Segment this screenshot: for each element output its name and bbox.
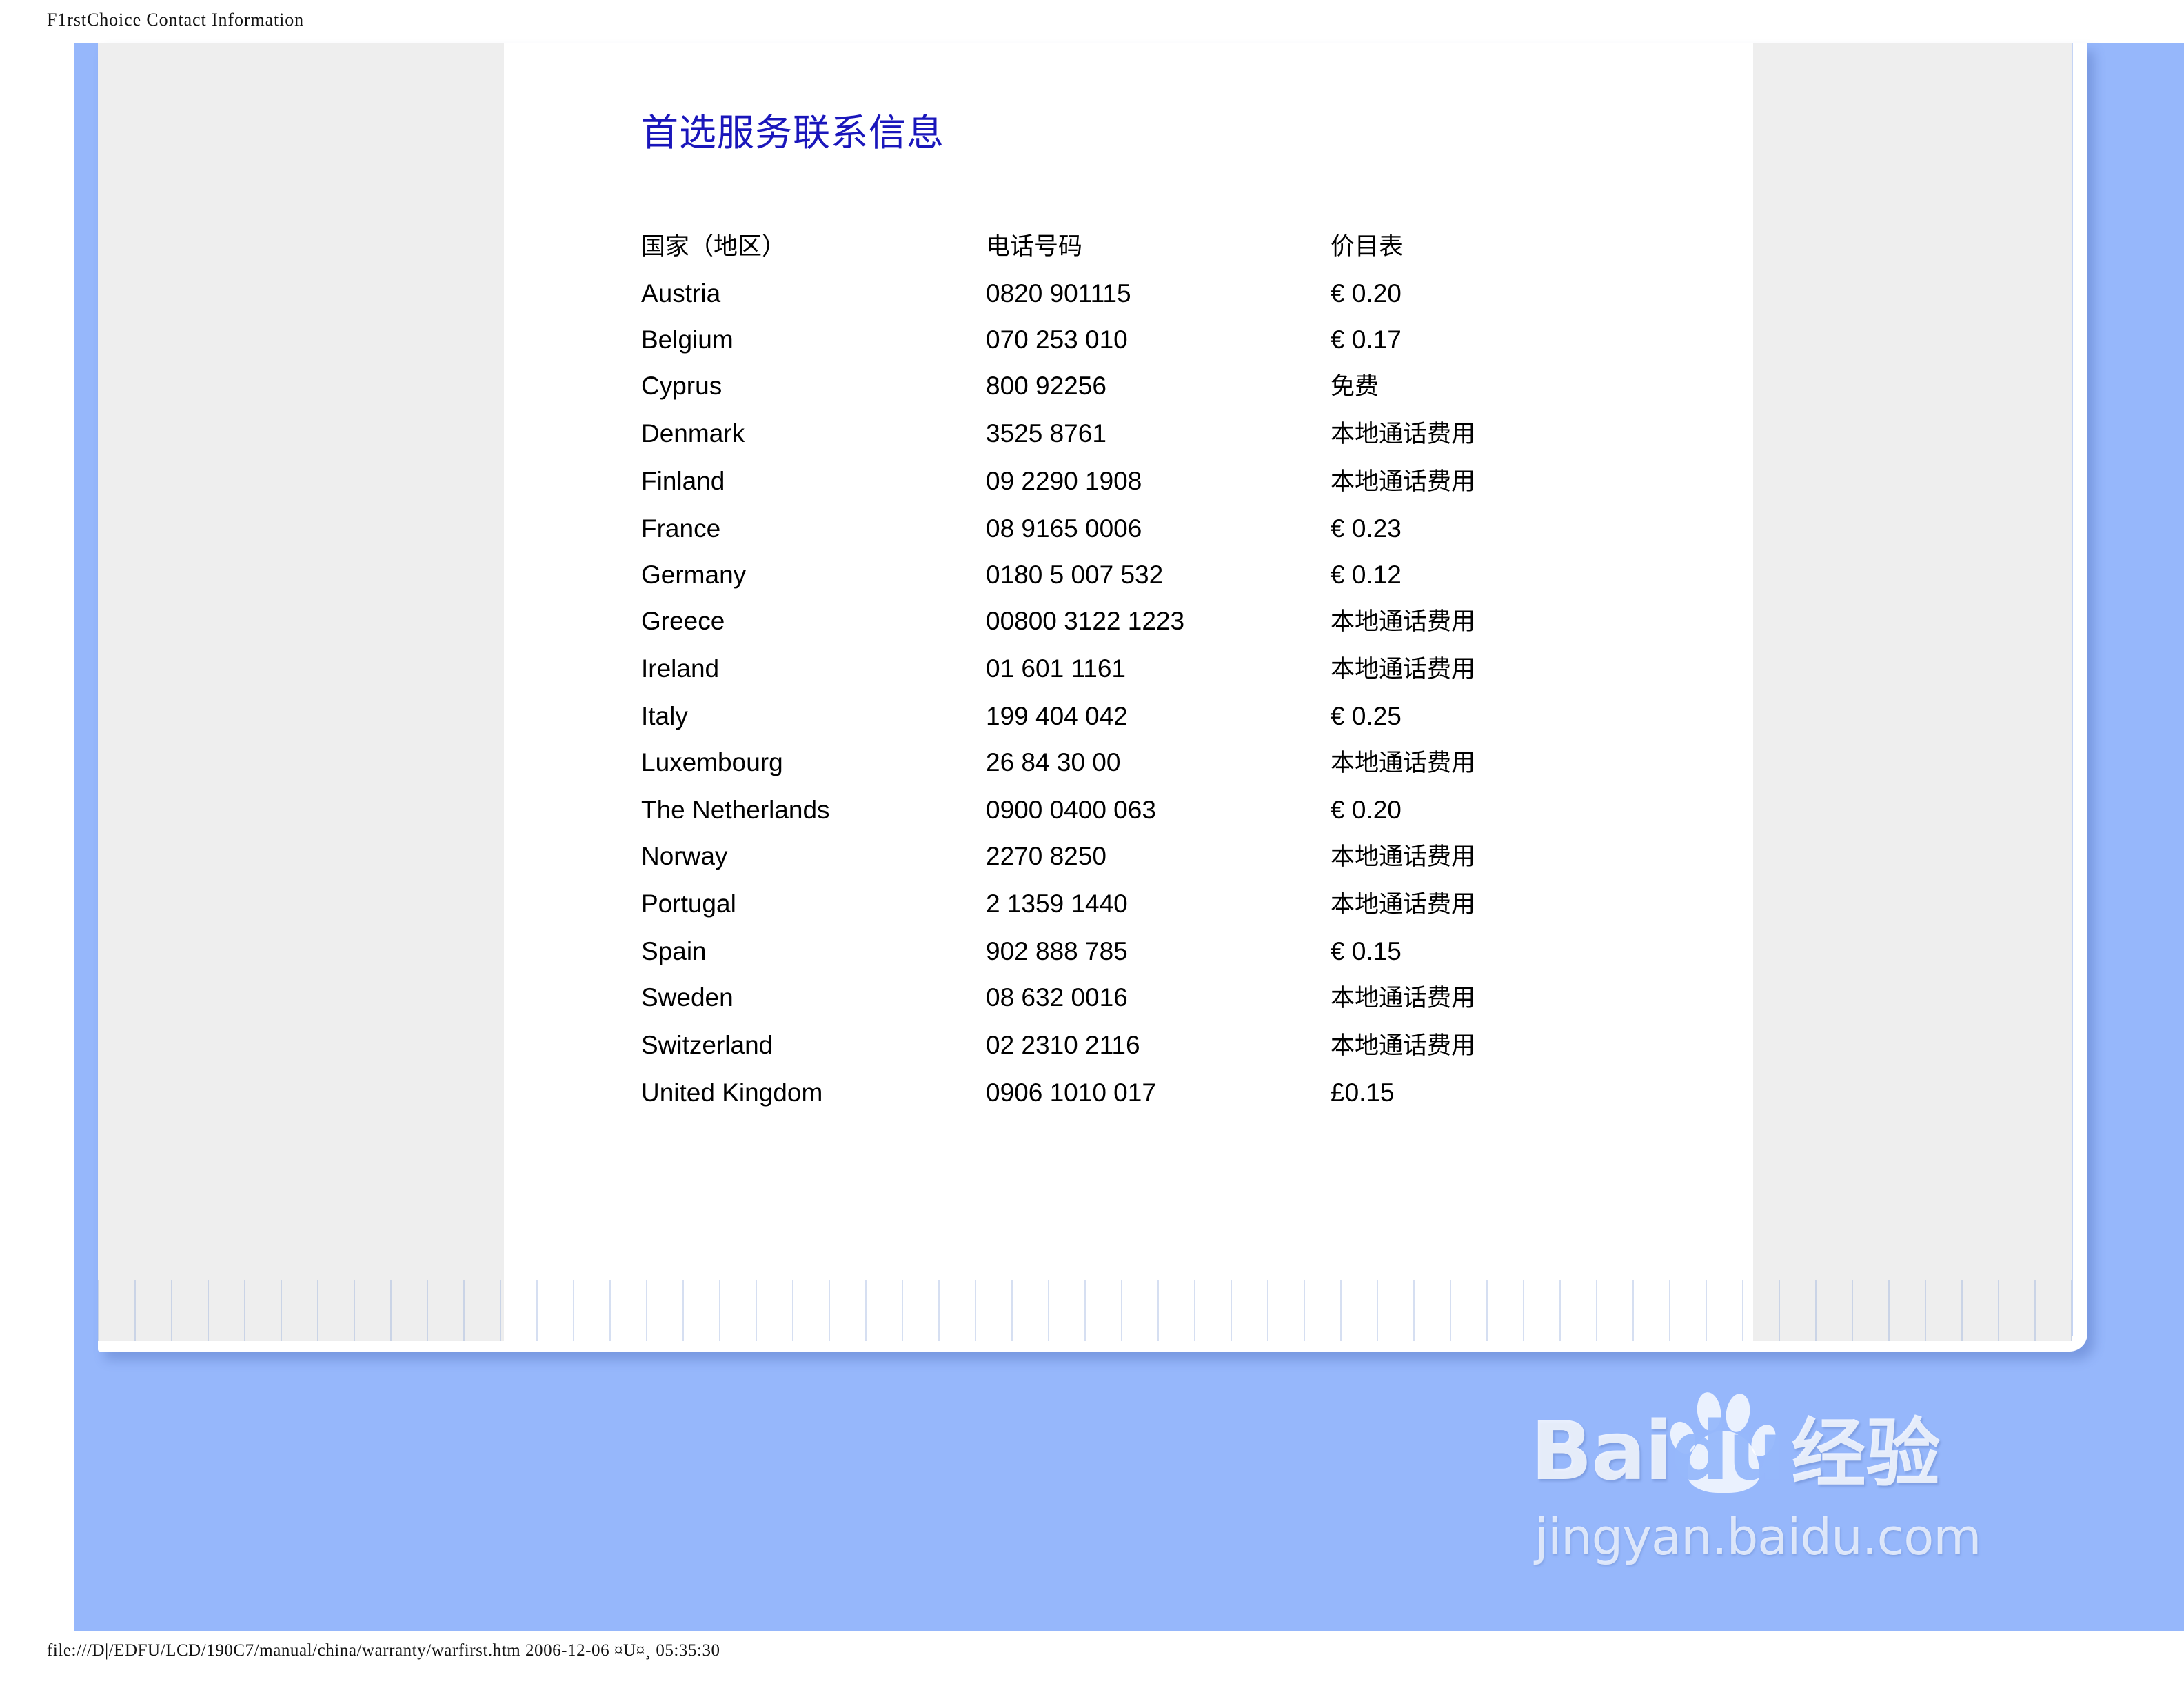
cell-tariff: € 0.23 xyxy=(1331,505,1620,552)
cell-country: France xyxy=(641,505,986,552)
table-row: Austria0820 901115€ 0.20 xyxy=(641,270,1620,316)
cell-phone-number: 09 2290 1908 xyxy=(986,458,1331,505)
table-row: Denmark3525 8761本地通话费用 xyxy=(641,410,1620,458)
cell-tariff: € 0.20 xyxy=(1331,787,1620,833)
column-header-country: 国家（地区） xyxy=(641,224,986,270)
cell-phone-number: 070 253 010 xyxy=(986,316,1331,363)
cell-tariff: 本地通话费用 xyxy=(1331,410,1620,458)
cell-country: Sweden xyxy=(641,974,986,1022)
cell-phone-number: 0906 1010 017 xyxy=(986,1069,1331,1116)
cell-country: Denmark xyxy=(641,410,986,458)
cell-tariff: 免费 xyxy=(1331,363,1620,410)
table-row: Italy199 404 042€ 0.25 xyxy=(641,693,1620,739)
cell-tariff: € 0.12 xyxy=(1331,552,1620,598)
cell-country: Norway xyxy=(641,833,986,881)
cell-phone-number: 01 601 1161 xyxy=(986,645,1331,693)
document-sheet: 首选服务联系信息 国家（地区） 电话号码 价目表 Austria0820 901… xyxy=(98,43,2087,1352)
page-title: 首选服务联系信息 xyxy=(641,102,944,157)
table-row: Ireland01 601 1161本地通话费用 xyxy=(641,645,1620,693)
table-row: Spain902 888 785€ 0.15 xyxy=(641,928,1620,974)
table-row: Switzerland02 2310 2116本地通话费用 xyxy=(641,1022,1620,1069)
table-row: Portugal2 1359 1440本地通话费用 xyxy=(641,881,1620,928)
cell-country: Luxembourg xyxy=(641,739,986,787)
cell-country: Belgium xyxy=(641,316,986,363)
table-row: The Netherlands0900 0400 063€ 0.20 xyxy=(641,787,1620,833)
table-row: Greece00800 3122 1223本地通话费用 xyxy=(641,598,1620,645)
cell-country: United Kingdom xyxy=(641,1069,986,1116)
table-row: Germany0180 5 007 532€ 0.12 xyxy=(641,552,1620,598)
cell-phone-number: 00800 3122 1223 xyxy=(986,598,1331,645)
column-header-phone: 电话号码 xyxy=(986,224,1331,270)
cell-phone-number: 08 632 0016 xyxy=(986,974,1331,1022)
cell-phone-number: 800 92256 xyxy=(986,363,1331,410)
cell-tariff: 本地通话费用 xyxy=(1331,598,1620,645)
cell-tariff: € 0.17 xyxy=(1331,316,1620,363)
cell-phone-number: 0820 901115 xyxy=(986,270,1331,316)
table-header-row: 国家（地区） 电话号码 价目表 xyxy=(641,224,1620,270)
cell-country: Ireland xyxy=(641,645,986,693)
cell-tariff: 本地通话费用 xyxy=(1331,833,1620,881)
cell-tariff: 本地通话费用 xyxy=(1331,458,1620,505)
column-header-tariff: 价目表 xyxy=(1331,224,1620,270)
cell-phone-number: 2270 8250 xyxy=(986,833,1331,881)
cell-phone-number: 26 84 30 00 xyxy=(986,739,1331,787)
left-margin-column xyxy=(98,43,504,1341)
cell-tariff: 本地通话费用 xyxy=(1331,974,1620,1022)
cell-country: Switzerland xyxy=(641,1022,986,1069)
table-body: Austria0820 901115€ 0.20Belgium070 253 0… xyxy=(641,270,1620,1116)
table-row: Norway2270 8250本地通话费用 xyxy=(641,833,1620,881)
table-row: Luxembourg26 84 30 00本地通话费用 xyxy=(641,739,1620,787)
document-content: 首选服务联系信息 国家（地区） 电话号码 价目表 Austria0820 901… xyxy=(504,43,1753,1341)
cell-country: Austria xyxy=(641,270,986,316)
cell-phone-number: 0900 0400 063 xyxy=(986,787,1331,833)
cell-country: The Netherlands xyxy=(641,787,986,833)
print-header-title: F1rstChoice Contact Information xyxy=(47,10,304,30)
cell-country: Finland xyxy=(641,458,986,505)
cell-phone-number: 902 888 785 xyxy=(986,928,1331,974)
table-header: 国家（地区） 电话号码 价目表 xyxy=(641,224,1620,270)
right-margin-column xyxy=(1753,43,2072,1341)
cell-phone-number: 0180 5 007 532 xyxy=(986,552,1331,598)
print-footer-path: file:///D|/EDFU/LCD/190C7/manual/china/w… xyxy=(47,1641,720,1660)
cell-tariff: € 0.25 xyxy=(1331,693,1620,739)
cell-tariff: 本地通话费用 xyxy=(1331,881,1620,928)
cell-country: Cyprus xyxy=(641,363,986,410)
cell-phone-number: 199 404 042 xyxy=(986,693,1331,739)
cell-tariff: € 0.15 xyxy=(1331,928,1620,974)
contact-information-table: 国家（地区） 电话号码 价目表 Austria0820 901115€ 0.20… xyxy=(641,224,1620,1116)
cell-country: Greece xyxy=(641,598,986,645)
cell-tariff: 本地通话费用 xyxy=(1331,645,1620,693)
cell-tariff: £0.15 xyxy=(1331,1069,1620,1116)
cell-country: Italy xyxy=(641,693,986,739)
cell-country: Germany xyxy=(641,552,986,598)
table-row: Finland09 2290 1908本地通话费用 xyxy=(641,458,1620,505)
table-row: Sweden08 632 0016本地通话费用 xyxy=(641,974,1620,1022)
cell-tariff: 本地通话费用 xyxy=(1331,739,1620,787)
table-row: Cyprus800 92256免费 xyxy=(641,363,1620,410)
cell-phone-number: 02 2310 2116 xyxy=(986,1022,1331,1069)
right-vertical-rule xyxy=(2072,43,2073,1336)
cell-tariff: € 0.20 xyxy=(1331,270,1620,316)
cell-phone-number: 3525 8761 xyxy=(986,410,1331,458)
table-row: United Kingdom0906 1010 017£0.15 xyxy=(641,1069,1620,1116)
cell-country: Portugal xyxy=(641,881,986,928)
cell-tariff: 本地通话费用 xyxy=(1331,1022,1620,1069)
table-row: Belgium070 253 010€ 0.17 xyxy=(641,316,1620,363)
table-row: France08 9165 0006€ 0.23 xyxy=(641,505,1620,552)
cell-phone-number: 08 9165 0006 xyxy=(986,505,1331,552)
cell-phone-number: 2 1359 1440 xyxy=(986,881,1331,928)
cell-country: Spain xyxy=(641,928,986,974)
